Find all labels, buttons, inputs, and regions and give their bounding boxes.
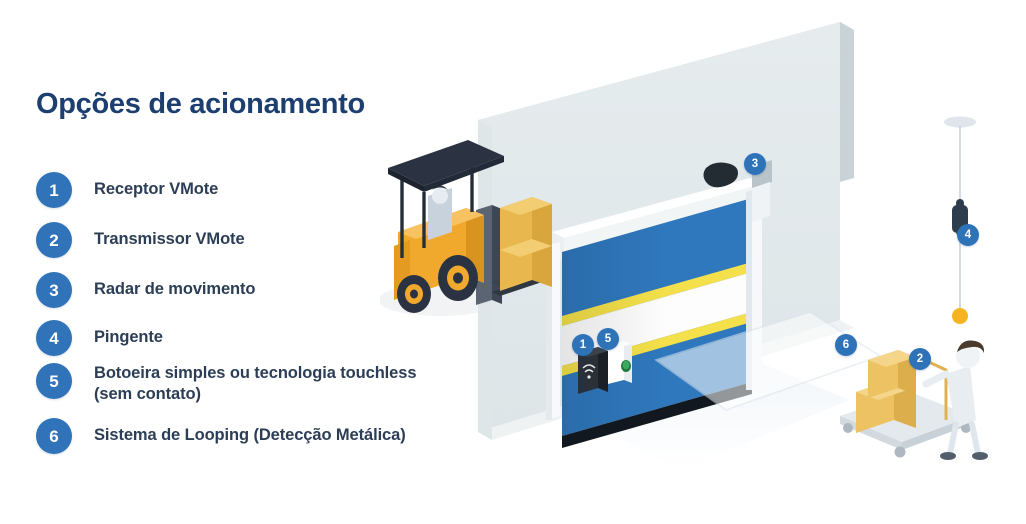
legend-label-6: Sistema de Looping (Detecção Metálica)	[94, 418, 406, 446]
cart-boxes	[856, 350, 916, 433]
legend-badge-5: 5	[36, 363, 72, 399]
legend-badge-3: 3	[36, 272, 72, 308]
callout-badge-2[interactable]: 2	[909, 348, 931, 370]
legend-item-2[interactable]: 2 Transmissor VMote	[36, 222, 245, 258]
forklift-boxes	[500, 197, 552, 291]
callout-badge-4[interactable]: 4	[957, 224, 979, 246]
legend-panel: Opções de acionamento 1 Receptor VMote 2…	[0, 0, 480, 524]
callout-badge-1[interactable]: 1	[572, 334, 594, 356]
legend-label-3: Radar de movimento	[94, 272, 255, 300]
callout-badge-6[interactable]: 6	[835, 334, 857, 356]
legend-label-5: Botoeira simples ou tecnologia touchless…	[94, 363, 416, 406]
legend-badge-1: 1	[36, 172, 72, 208]
legend-badge-2: 2	[36, 222, 72, 258]
legend-badge-4: 4	[36, 320, 72, 356]
legend-item-6[interactable]: 6 Sistema de Looping (Detecção Metálica)	[36, 418, 406, 454]
legend-label-4: Pingente	[94, 320, 163, 348]
legend-item-5[interactable]: 5 Botoeira simples ou tecnologia touchle…	[36, 363, 416, 406]
callout-badge-5[interactable]: 5	[597, 328, 619, 350]
pendant-switch-device	[944, 117, 976, 325]
legend-item-1[interactable]: 1 Receptor VMote	[36, 172, 218, 208]
legend-label-2: Transmissor VMote	[94, 222, 245, 250]
worker-figure	[926, 340, 988, 460]
page-title: Opções de acionamento	[36, 88, 365, 121]
legend-badge-6: 6	[36, 418, 72, 454]
legend-label-1: Receptor VMote	[94, 172, 218, 200]
callout-badge-3[interactable]: 3	[744, 153, 766, 175]
infographic-poster: 3 4 1 5 6 2 Opções de acionamento 1 Rece…	[0, 0, 1026, 524]
legend-item-4[interactable]: 4 Pingente	[36, 320, 163, 356]
legend-item-3[interactable]: 3 Radar de movimento	[36, 272, 255, 308]
